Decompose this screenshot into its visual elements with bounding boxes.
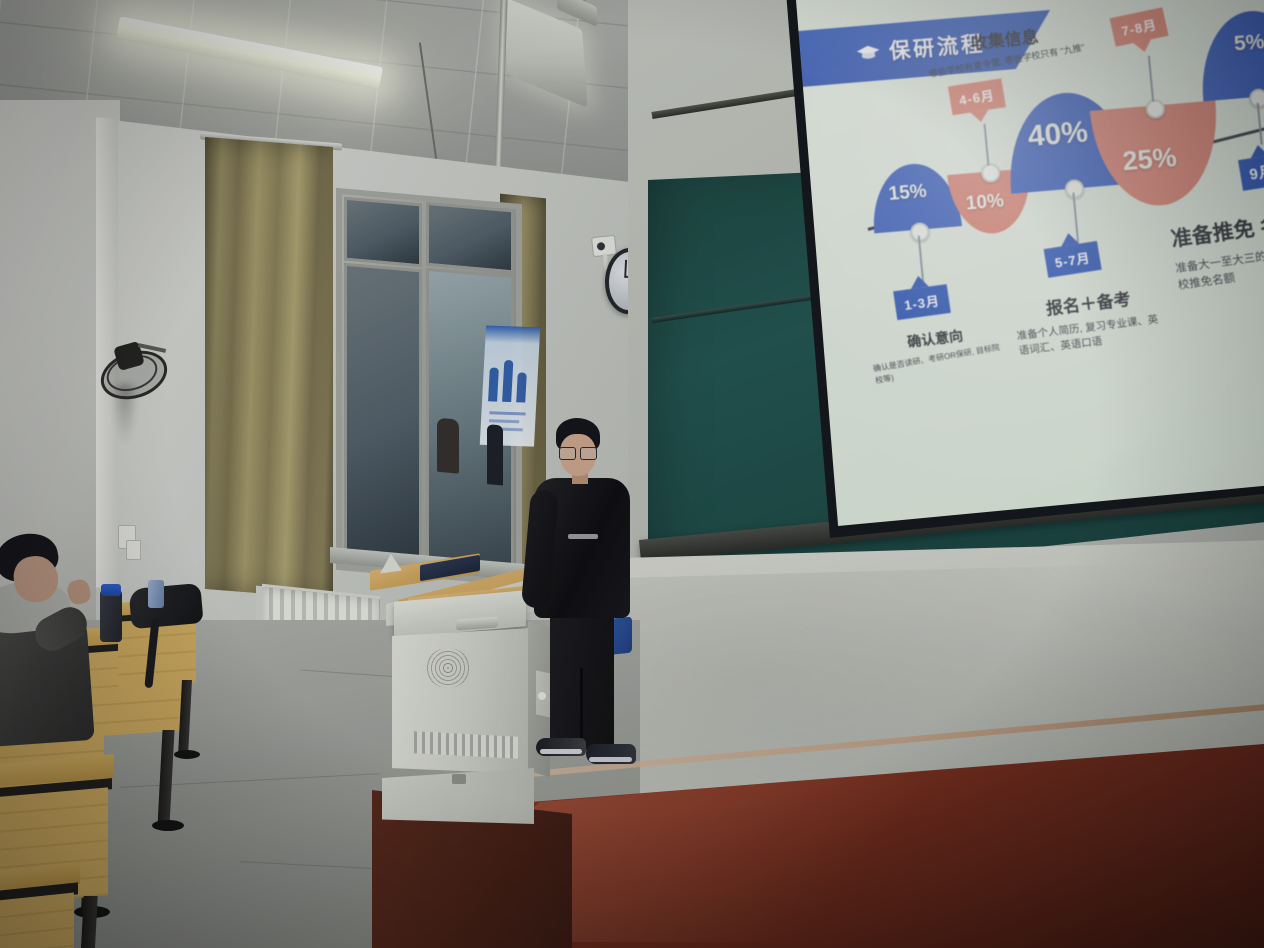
month-flag-5-label: 9月 [1248,163,1264,184]
water-bottle-small[interactable] [148,580,164,608]
classroom-scene: 保研流程 收集信息 哪些学校有夏令营, 哪些学校只有 "九推" 参加夏令营 参加… [0,0,1264,948]
step-2: 报名＋备考 准备个人简历, 复习专业课、英语词汇、英语口语 [1012,281,1169,360]
window-pane [426,202,514,274]
month-flag-2-label: 4-6月 [958,88,996,108]
window-pane [344,197,422,268]
month-flag-1-label: 1-3月 [903,293,941,313]
graduation-cap-icon [854,42,882,62]
screen-surface: 保研流程 收集信息 哪些学校有夏令营, 哪些学校只有 "九推" 参加夏令营 参加… [744,0,1264,538]
shoe [536,738,586,756]
projection-screen: 保研流程 收集信息 哪些学校有夏令营, 哪些学校只有 "九推" 参加夏令营 参加… [744,0,1264,532]
timeline-stem [983,124,989,166]
lectern-latch[interactable] [452,774,466,784]
glasses-icon [580,447,597,460]
month-flag-1: 1-3月 [893,284,951,320]
presenter [528,418,634,778]
shoe [586,744,636,764]
hanging-fluorescent-lamp-icon [505,0,595,116]
bubble-25-percent: 25% [1121,142,1178,177]
month-flag-3-label: 5-7月 [1054,250,1092,270]
glasses-icon [559,447,576,460]
window-pane-lit [426,268,514,576]
speaker-vent [426,648,470,688]
timeline-stem [1148,56,1154,102]
bubble-15-percent: 15% [888,181,928,206]
bubble-10-percent: 10% [965,190,1005,215]
window-curtain-left[interactable] [205,137,333,599]
bubble-5-percent: 5% [1233,30,1264,56]
window-pane [344,263,422,566]
slide-content: 保研流程 收集信息 哪些学校有夏令营, 哪些学校只有 "九推" 参加夏令营 参加… [784,0,1264,538]
wall-camera-icon [591,235,617,257]
month-flag-2: 4-6月 [948,78,1006,115]
step-3: 准备推免 名额材料 准备大一至大三的各项材料, 获得本校推免名额 [1169,202,1264,295]
step-3-heading: 准备推免 名额材料 [1169,202,1264,254]
month-flag-4-label: 7-8月 [1120,17,1158,39]
timeline-stem [1257,103,1263,145]
lectern-paper-stand [380,552,402,573]
step-1: 确认意向 确认是否读研、考研OR保研, 目标院校等) [869,321,1004,383]
month-flag-5: 9月 [1238,154,1264,191]
classroom-window[interactable] [336,188,522,586]
bubble-40-percent: 40% [1026,115,1089,154]
reflected-person [437,418,459,474]
reflected-person [487,424,503,485]
month-flag-4: 7-8月 [1110,7,1169,46]
month-flag-3: 5-7月 [1044,241,1102,278]
wall-fan-icon [98,338,166,400]
seated-student [0,520,150,720]
